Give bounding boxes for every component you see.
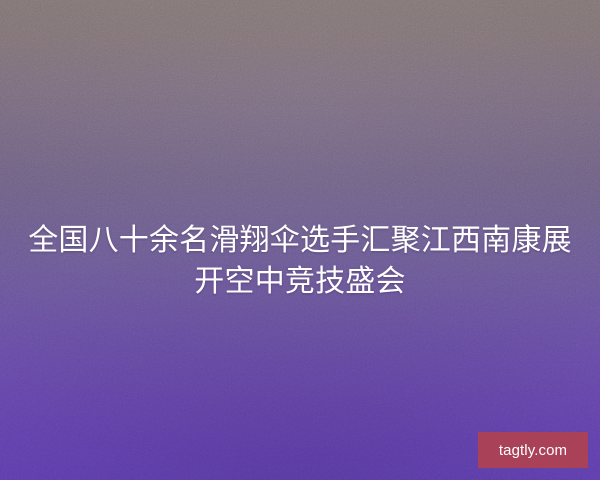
hero-image-canvas: 全国八十余名滑翔伞选手汇聚江西南康展开空中竞技盛会 tagtly.com [0, 0, 600, 480]
headline-text: 全国八十余名滑翔伞选手汇聚江西南康展开空中竞技盛会 [0, 220, 600, 302]
watermark-badge: tagtly.com [478, 432, 588, 468]
watermark-label: tagtly.com [499, 443, 567, 458]
